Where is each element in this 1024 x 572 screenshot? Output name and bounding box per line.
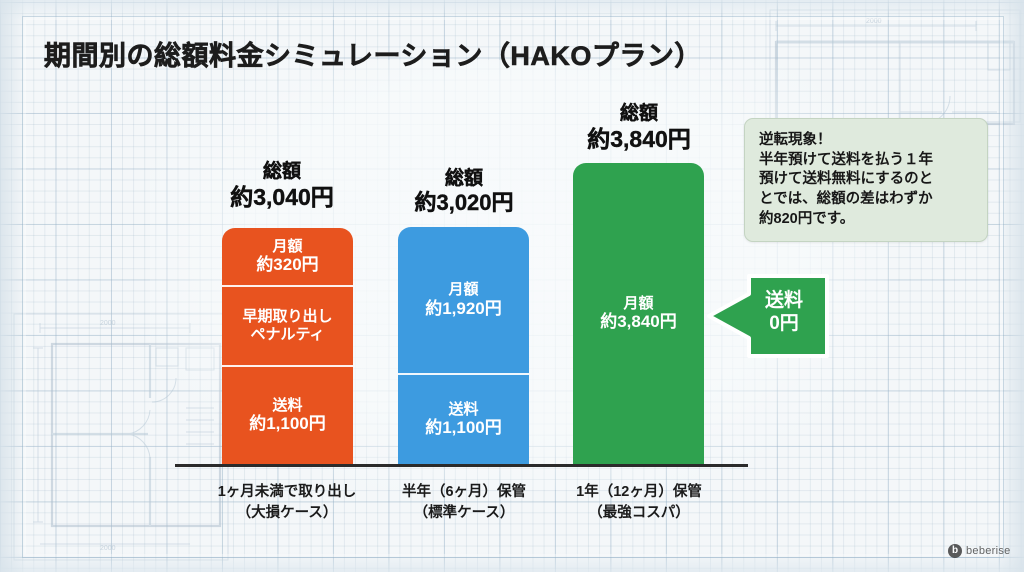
bar-chart: 総額 約3,040円 月額 約320円 早期取り出し ペナルティ 送料 約1,1… bbox=[0, 0, 1024, 572]
callout-box: 逆転現象！ 半年預けて送料を払う１年 預けて送料無料にするのと とでは、総額の差… bbox=[744, 118, 988, 242]
callout-line-1: 逆転現象！ bbox=[759, 131, 975, 151]
bar-1[interactable]: 月額 約320円 早期取り出し ペナルティ 送料 約1,100円 bbox=[222, 228, 353, 464]
total-label-bar-1: 総額 約3,040円 bbox=[187, 160, 377, 211]
segment-value: 約320円 bbox=[256, 255, 318, 275]
callout-line-5: 約820円です。 bbox=[759, 210, 975, 230]
segment-label: 送料 bbox=[272, 397, 302, 415]
x-axis-line bbox=[175, 464, 748, 467]
x-axis-label-line1: 1年（12ヶ月）保管 bbox=[524, 482, 754, 503]
total-value: 約3,020円 bbox=[369, 190, 559, 217]
arrow-badge-line1: 送料 bbox=[743, 290, 825, 313]
callout-line-2: 半年預けて送料を払う１年 bbox=[759, 151, 975, 171]
logo-mark-icon: b bbox=[948, 544, 962, 558]
total-heading: 総額 bbox=[544, 102, 734, 125]
arrow-badge-line2: 0円 bbox=[743, 313, 825, 336]
segment-label: 月額 bbox=[623, 295, 653, 313]
bar-1-segment-shipping: 送料 約1,100円 bbox=[222, 365, 353, 464]
brand-logo: b beberise bbox=[948, 544, 1011, 558]
total-label-bar-2: 総額 約3,020円 bbox=[369, 167, 559, 217]
bar-3[interactable]: 月額 約3,840円 bbox=[573, 163, 704, 464]
segment-value: 約1,100円 bbox=[425, 418, 502, 438]
bar-1-segment-monthly: 月額 約320円 bbox=[222, 228, 353, 285]
callout-line-3: 預けて送料無料にするのと bbox=[759, 170, 975, 190]
total-value: 約3,040円 bbox=[187, 183, 377, 211]
x-axis-label-line2: （最強コスパ） bbox=[524, 503, 754, 524]
x-axis-label-bar-3: 1年（12ヶ月）保管 （最強コスパ） bbox=[524, 482, 754, 524]
segment-label-2: ペナルティ bbox=[250, 326, 324, 344]
logo-name: beberise bbox=[966, 545, 1011, 557]
callout-line-4: とでは、総額の差はわずか bbox=[759, 190, 975, 210]
total-value: 約3,840円 bbox=[544, 125, 734, 153]
segment-label: 早期取り出し bbox=[242, 308, 332, 326]
segment-label: 月額 bbox=[272, 238, 302, 256]
bar-1-segment-penalty: 早期取り出し ペナルティ bbox=[222, 285, 353, 365]
total-heading: 総額 bbox=[369, 167, 559, 190]
segment-value: 約1,100円 bbox=[249, 414, 326, 434]
bar-2-segment-shipping: 送料 約1,100円 bbox=[398, 373, 529, 464]
total-label-bar-3: 総額 約3,840円 bbox=[544, 102, 734, 153]
bar-2[interactable]: 月額 約1,920円 送料 約1,100円 bbox=[398, 227, 529, 464]
bar-3-segment-monthly: 月額 約3,840円 bbox=[573, 163, 704, 464]
bar-2-segment-monthly: 月額 約1,920円 bbox=[398, 227, 529, 373]
segment-label: 月額 bbox=[448, 281, 478, 299]
segment-value: 約1,920円 bbox=[425, 299, 502, 319]
slide-canvas: 2000 2000 2000 bbox=[0, 0, 1024, 572]
total-heading: 総額 bbox=[187, 160, 377, 183]
arrow-badge-text: 送料 0円 bbox=[743, 290, 825, 336]
shipping-free-arrow-badge: 送料 0円 bbox=[705, 272, 831, 360]
segment-value: 約3,840円 bbox=[600, 312, 677, 332]
segment-label: 送料 bbox=[448, 401, 478, 419]
